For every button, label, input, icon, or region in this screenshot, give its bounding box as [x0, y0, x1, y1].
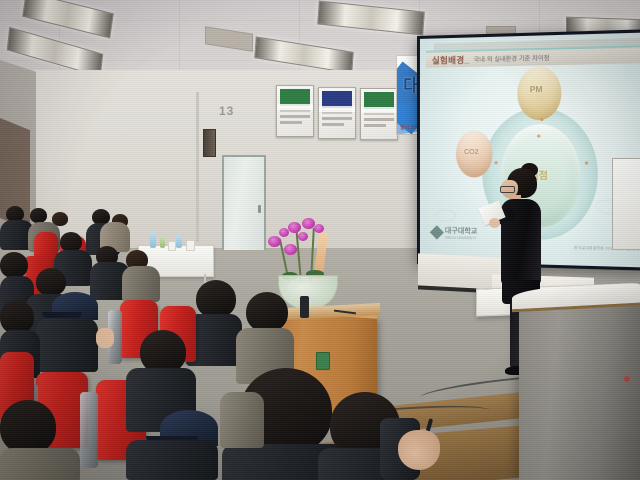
orchid-bloom: [268, 236, 281, 247]
audience-head: [246, 292, 288, 332]
poster-header-block: [280, 89, 310, 106]
banner-date-prefix: 일시: [400, 125, 409, 131]
orchid-bloom: [314, 224, 324, 233]
door-handle[interactable]: [258, 205, 261, 213]
audience-head: [0, 252, 28, 278]
orchid-bloom: [288, 222, 301, 233]
diamond-logo-icon: [430, 225, 444, 239]
water-bottle: [176, 235, 182, 248]
wall-poster: [276, 85, 314, 137]
slide-title-main: 실험배경_: [432, 53, 470, 66]
audience-head: [60, 232, 82, 252]
poster-header-block: [322, 91, 352, 108]
slide-decoration: [436, 209, 456, 221]
lectern-indicator-light: [624, 376, 630, 382]
audience-head: [36, 268, 66, 296]
wall-speaker: [203, 129, 216, 157]
audience-torso: [36, 318, 98, 372]
side-door[interactable]: [222, 155, 266, 250]
audience-head: [196, 280, 236, 318]
slide-title-sub: 국내·외 실내환경 기준 차이점: [474, 53, 550, 64]
slide-dot: [537, 135, 540, 138]
orchid-bloom: [298, 232, 308, 241]
poster-glass-glare: [277, 104, 313, 110]
poster-glass-glare: [319, 106, 355, 112]
drink-bottle: [160, 236, 165, 248]
wall-poster: [360, 88, 398, 140]
drink-can: [316, 352, 330, 370]
whiteboard: [612, 158, 640, 250]
remote-control[interactable]: [300, 296, 309, 318]
glasses-icon: [500, 186, 515, 193]
poster-text-line: [364, 118, 394, 121]
logo-subname: DAEGU UNIVERSITY: [445, 236, 478, 241]
audience-torso: [122, 266, 160, 302]
logo-name: 대구대학교: [445, 226, 478, 237]
poster-text-line: [322, 123, 344, 126]
presenter-hand: [489, 218, 500, 228]
paper-cup: [168, 241, 176, 251]
poster-glass-glare: [361, 107, 397, 113]
lectern: [519, 298, 640, 480]
slide-dot: [540, 118, 543, 121]
audience-hand-with-pen: [398, 430, 440, 470]
poster-text-line: [322, 117, 352, 120]
paper-cup: [186, 240, 195, 251]
orchid-bloom: [284, 244, 297, 255]
slide-label-co2: CO2: [464, 149, 479, 156]
water-bottle: [150, 232, 156, 248]
poster-text-line: [280, 115, 310, 118]
room-number-sign: 13: [219, 104, 234, 118]
slide-dot: [585, 161, 588, 164]
slide-university-logo: 대구대학교 DAEGU UNIVERSITY: [432, 225, 478, 240]
audience-shoulder: [220, 392, 264, 448]
lecture-hall-photo: 13 대구 대 일시 2009. 11. 실험배경_ 국내·외 실내환경 기준 …: [0, 0, 640, 480]
audience-torso: [0, 448, 80, 480]
audience-head: [0, 400, 56, 454]
audience-hand: [96, 328, 114, 348]
poster-text-line: [280, 121, 302, 124]
audience-torso: [126, 440, 218, 480]
wall-poster: [318, 87, 356, 139]
audience-head: [0, 300, 34, 334]
audience-head: [30, 208, 47, 223]
slide-dot: [495, 161, 498, 164]
poster-header-block: [364, 92, 394, 109]
slide-label-pm: PM: [530, 85, 543, 94]
wall-corner-joint: [196, 92, 199, 242]
seat-frame: [80, 392, 98, 468]
poster-text-line: [364, 124, 386, 127]
